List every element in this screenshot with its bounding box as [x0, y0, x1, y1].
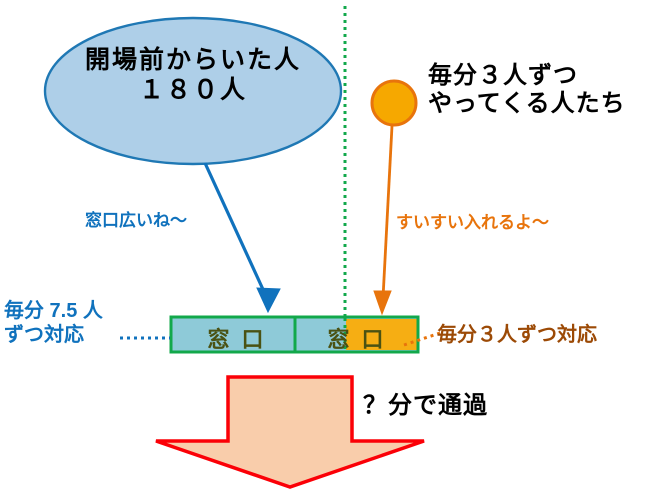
gate-label-2: 窓 口 — [312, 322, 402, 354]
orange-note-label: すいすい入れるよ〜 — [396, 213, 549, 233]
right-rate-label: 毎分３人ずつ対応 — [437, 324, 597, 348]
arrivals-label: 毎分３人ずつやってくる人たち — [428, 62, 668, 119]
left-rate-line2: ずつ対応 — [4, 324, 84, 346]
existing-crowd-line1: 開場前からいた人 — [85, 46, 301, 74]
existing-crowd-line2: １８０人 — [139, 76, 247, 104]
gate-label-1: 窓 口 — [192, 322, 282, 354]
blue-note-label: 窓口広いね〜 — [85, 211, 187, 231]
existing-crowd-label: 開場前からいた人１８０人 — [56, 46, 330, 105]
pass-question-label: ？分で通過 — [363, 392, 488, 420]
arrivals-line2: やってくる人たち — [428, 90, 626, 117]
left-rate-label: 毎分 7.5 人ずつ対応 — [4, 300, 164, 347]
orange-leader-arrow — [374, 126, 392, 314]
blue-leader-arrow — [205, 163, 280, 312]
arrivals-line1: 毎分３人ずつ — [428, 62, 578, 89]
left-rate-line1: 毎分 7.5 人 — [4, 300, 103, 322]
diagram-canvas: 開場前からいた人１８０人 毎分３人ずつやってくる人たち 窓口広いね〜 すいすい入… — [0, 0, 668, 489]
arrivals-circle — [372, 81, 416, 125]
